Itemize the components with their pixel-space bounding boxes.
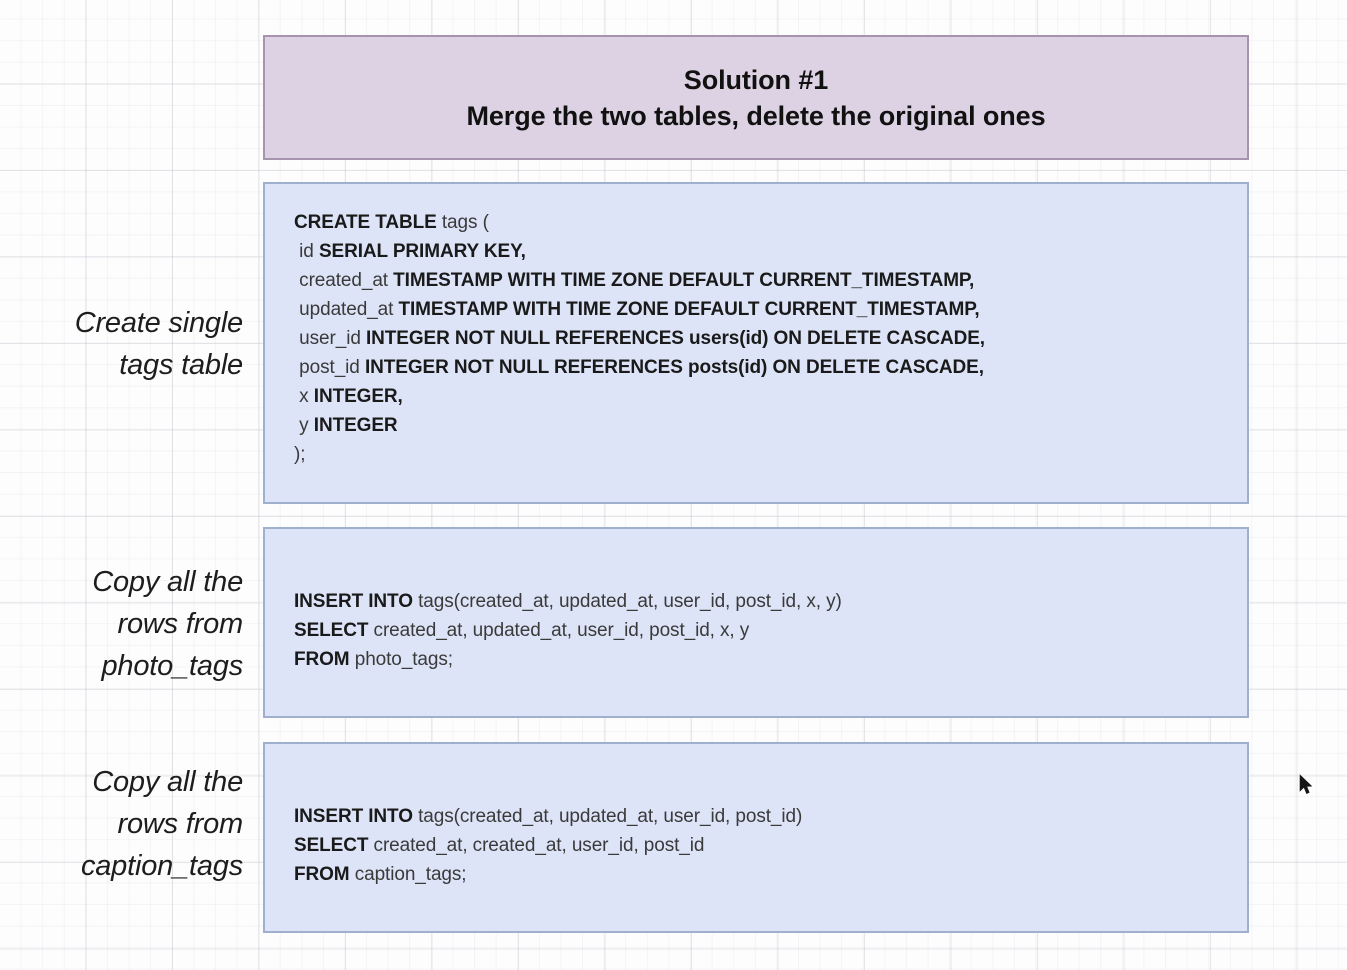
code-block-insert-from-photo-tags: INSERT INTO tags(created_at, updated_at,… — [263, 527, 1249, 718]
code-text: INSERT INTO tags(created_at, updated_at,… — [294, 802, 1237, 889]
sql-identifier: created_at — [294, 270, 393, 291]
code-line: CREATE TABLE tags ( — [294, 208, 1237, 237]
sql-identifier: tags(created_at, updated_at, user_id, po… — [413, 806, 802, 827]
sql-identifier: created_at, created_at, user_id, post_id — [368, 835, 704, 856]
slide-title-line-2: Merge the two tables, delete the origina… — [466, 98, 1045, 134]
mouse-pointer-icon — [1299, 774, 1313, 796]
annotation-line: tags table — [0, 344, 243, 386]
code-line: created_at TIMESTAMP WITH TIME ZONE DEFA… — [294, 266, 1237, 295]
code-block-insert-from-caption-tags: INSERT INTO tags(created_at, updated_at,… — [263, 742, 1249, 933]
slide-title-box: Solution #1 Merge the two tables, delete… — [263, 35, 1249, 160]
code-line: SELECT created_at, created_at, user_id, … — [294, 831, 1237, 860]
code-block-create-table-tags: CREATE TABLE tags ( id SERIAL PRIMARY KE… — [263, 182, 1249, 504]
sql-identifier: y — [294, 415, 314, 436]
code-line: FROM caption_tags; — [294, 860, 1237, 889]
annotation-create-single-tags-table: Create singletags table — [0, 302, 243, 386]
sql-keyword: CREATE TABLE — [294, 212, 437, 233]
sql-identifier: id — [294, 241, 319, 262]
code-line: FROM photo_tags; — [294, 645, 1237, 674]
sql-keyword: SELECT — [294, 620, 368, 641]
code-text: INSERT INTO tags(created_at, updated_at,… — [294, 587, 1237, 674]
code-line: SELECT created_at, updated_at, user_id, … — [294, 616, 1237, 645]
sql-identifier: user_id — [294, 328, 366, 349]
sql-keyword: INSERT INTO — [294, 591, 413, 612]
annotation-copy-rows-caption-tags: Copy all therows fromcaption_tags — [0, 761, 243, 887]
sql-identifier: tags ( — [437, 212, 489, 233]
annotation-line: caption_tags — [0, 845, 243, 887]
sql-keyword: SELECT — [294, 835, 368, 856]
sql-identifier: created_at, updated_at, user_id, post_id… — [368, 620, 749, 641]
sql-keyword: TIMESTAMP WITH TIME ZONE DEFAULT CURRENT… — [393, 270, 974, 291]
sql-keyword: FROM — [294, 864, 350, 885]
annotation-line: photo_tags — [0, 645, 243, 687]
sql-keyword: FROM — [294, 649, 350, 670]
sql-keyword: INTEGER NOT NULL REFERENCES users(id) ON… — [366, 328, 985, 349]
sql-keyword: INTEGER, — [314, 386, 403, 407]
sql-identifier: updated_at — [294, 299, 398, 320]
code-line: y INTEGER — [294, 411, 1237, 440]
code-text: CREATE TABLE tags ( id SERIAL PRIMARY KE… — [294, 208, 1237, 469]
sql-identifier: caption_tags; — [350, 864, 467, 885]
sql-keyword: INSERT INTO — [294, 806, 413, 827]
annotation-line: rows from — [0, 803, 243, 845]
annotation-copy-rows-photo-tags: Copy all therows fromphoto_tags — [0, 561, 243, 687]
code-line: INSERT INTO tags(created_at, updated_at,… — [294, 587, 1237, 616]
sql-identifier: x — [294, 386, 314, 407]
code-line: x INTEGER, — [294, 382, 1237, 411]
code-line: updated_at TIMESTAMP WITH TIME ZONE DEFA… — [294, 295, 1237, 324]
annotation-line: rows from — [0, 603, 243, 645]
annotation-line: Copy all the — [0, 761, 243, 803]
code-line: id SERIAL PRIMARY KEY, — [294, 237, 1237, 266]
sql-identifier: photo_tags; — [350, 649, 453, 670]
code-line: INSERT INTO tags(created_at, updated_at,… — [294, 802, 1237, 831]
sql-keyword: SERIAL PRIMARY KEY, — [319, 241, 526, 262]
sql-identifier: tags(created_at, updated_at, user_id, po… — [413, 591, 842, 612]
sql-keyword: INTEGER — [314, 415, 398, 436]
slide-canvas: Solution #1 Merge the two tables, delete… — [0, 0, 1347, 970]
code-line: user_id INTEGER NOT NULL REFERENCES user… — [294, 324, 1237, 353]
annotation-line: Copy all the — [0, 561, 243, 603]
code-line: post_id INTEGER NOT NULL REFERENCES post… — [294, 353, 1237, 382]
annotation-line: Create single — [0, 302, 243, 344]
sql-keyword: TIMESTAMP WITH TIME ZONE DEFAULT CURRENT… — [398, 299, 979, 320]
sql-keyword: INTEGER NOT NULL REFERENCES posts(id) ON… — [365, 357, 984, 378]
code-line: ); — [294, 440, 1237, 469]
slide-title-line-1: Solution #1 — [684, 62, 828, 98]
sql-identifier: post_id — [294, 357, 365, 378]
sql-identifier: ); — [294, 444, 305, 465]
